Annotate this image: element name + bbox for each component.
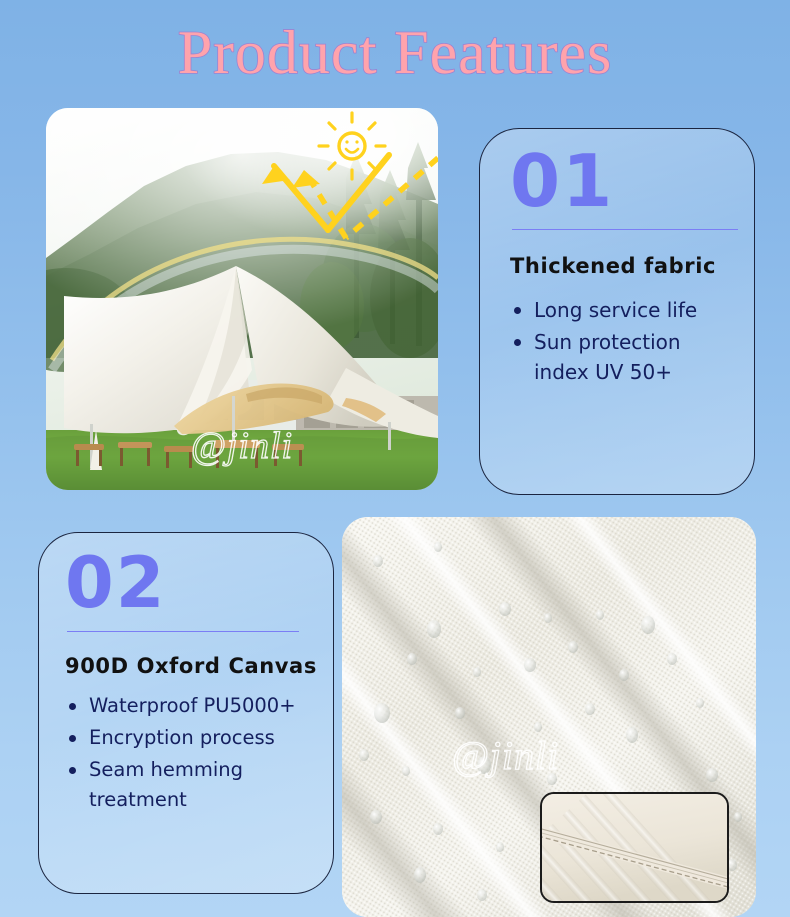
page-title: Product Features	[0, 14, 790, 92]
card-heading-01: Thickened fabric	[510, 252, 732, 281]
feature-card-01: 01 Thickened fabric Long service life Su…	[479, 128, 755, 495]
card-heading-02: 900D Oxford Canvas	[65, 652, 317, 681]
card-divider-02	[67, 631, 299, 632]
card-divider-01	[512, 229, 738, 230]
card-number-01: 01	[510, 141, 732, 221]
feature-card-02: 02 900D Oxford Canvas Waterproof PU5000+…	[38, 532, 334, 894]
seam-detail-inset	[540, 792, 729, 903]
list-item: Sun protection index UV 50+	[510, 327, 732, 387]
list-item: Seam hemming treatment	[65, 755, 317, 815]
card-bullets-01: Long service life Sun protection index U…	[510, 295, 732, 387]
list-item: Encryption process	[65, 723, 317, 753]
tent-photo-artwork: @jinli @jinli	[46, 108, 438, 490]
card-bullets-02: Waterproof PU5000+ Encryption process Se…	[65, 691, 317, 815]
product-features-poster: Product Features	[0, 0, 790, 917]
fabric-photo: @jinli	[342, 517, 756, 917]
list-item: Long service life	[510, 295, 732, 325]
tent-photo: @jinli @jinli @jinli	[46, 108, 438, 490]
card-number-02: 02	[65, 543, 317, 623]
list-item: Waterproof PU5000+	[65, 691, 317, 721]
